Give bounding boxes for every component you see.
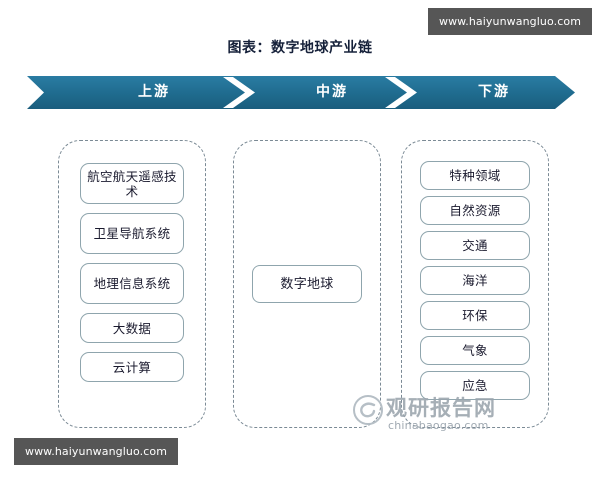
node-upstream-2[interactable]: 地理信息系统 [80,263,184,304]
value-chain-banner: 上游 中游 下游 [27,76,575,109]
node-downstream-0[interactable]: 特种领域 [420,161,530,190]
watermark-top-right: www.haiyunwangluo.com [428,8,592,35]
downstream-node-list: 特种领域 自然资源 交通 海洋 环保 气象 应急 [402,141,548,427]
stage-label-upstream: 上游 [99,76,209,109]
node-downstream-4[interactable]: 环保 [420,301,530,330]
column-midstream: 数字地球 [233,140,381,428]
column-downstream: 特种领域 自然资源 交通 海洋 环保 气象 应急 [401,140,549,428]
node-downstream-5[interactable]: 气象 [420,336,530,365]
column-upstream: 航空航天遥感技术 卫星导航系统 地理信息系统 大数据 云计算 [58,140,206,428]
node-upstream-0[interactable]: 航空航天遥感技术 [80,163,184,204]
midstream-node-list: 数字地球 [234,141,380,427]
stage-label-midstream: 中游 [277,76,387,109]
node-downstream-3[interactable]: 海洋 [420,266,530,295]
node-downstream-6[interactable]: 应急 [420,371,530,400]
page-title: 图表：数字地球产业链 [0,37,600,57]
watermark-bottom-left: www.haiyunwangluo.com [14,438,178,465]
node-downstream-2[interactable]: 交通 [420,231,530,260]
node-upstream-1[interactable]: 卫星导航系统 [80,213,184,254]
upstream-node-list: 航空航天遥感技术 卫星导航系统 地理信息系统 大数据 云计算 [59,141,205,427]
node-downstream-1[interactable]: 自然资源 [420,196,530,225]
node-midstream-0[interactable]: 数字地球 [252,265,362,303]
stage-label-downstream: 下游 [439,76,549,109]
node-upstream-3[interactable]: 大数据 [80,313,184,343]
node-upstream-4[interactable]: 云计算 [80,352,184,382]
